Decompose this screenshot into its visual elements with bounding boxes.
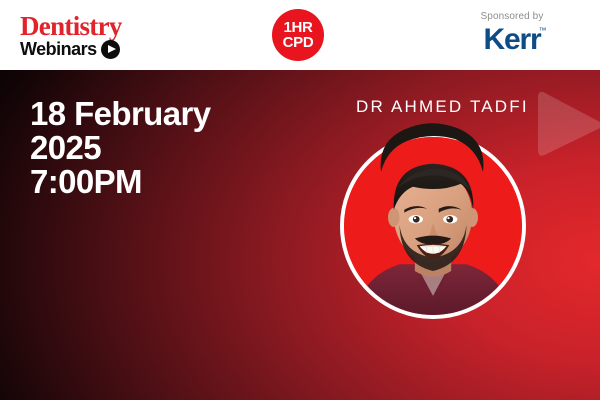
event-date-block: 18 February 2025 7:00PM [30, 97, 211, 199]
brand-row-webinars: Webinars [20, 40, 160, 59]
event-date-line-1: 18 February [30, 97, 211, 131]
event-date-line-2: 2025 [30, 131, 211, 165]
presenter-name: DR AHMED TADFI [356, 97, 529, 117]
brand-name-webinars: Webinars [20, 40, 97, 59]
presenter-photo [344, 137, 522, 315]
sponsor-block: Sponsored by Kerr ™ [442, 11, 582, 56]
event-time: 7:00PM [30, 165, 211, 199]
trademark-icon: ™ [538, 27, 546, 35]
brand-name-dentistry: Dentistry [20, 13, 160, 39]
sponsored-by-label: Sponsored by [442, 11, 582, 23]
play-triangle-icon [530, 88, 600, 158]
presenter-avatar [340, 133, 526, 319]
cpd-label: CPD [283, 35, 314, 51]
dentistry-webinars-logo[interactable]: Dentistry Webinars [20, 13, 160, 59]
header-bar: Dentistry Webinars 1HR CPD Sponsored by … [0, 0, 600, 70]
cpd-duration: 1HR [283, 20, 312, 35]
sponsor-logo[interactable]: Kerr ™ [484, 24, 541, 56]
webinar-promo-banner: Dentistry Webinars 1HR CPD Sponsored by … [0, 0, 600, 400]
play-circle-icon [101, 40, 120, 59]
banner-stage: 18 February 2025 7:00PM DR AHMED TADFI [0, 70, 600, 400]
sponsor-name: Kerr [484, 23, 541, 56]
cpd-badge: 1HR CPD [272, 9, 324, 61]
